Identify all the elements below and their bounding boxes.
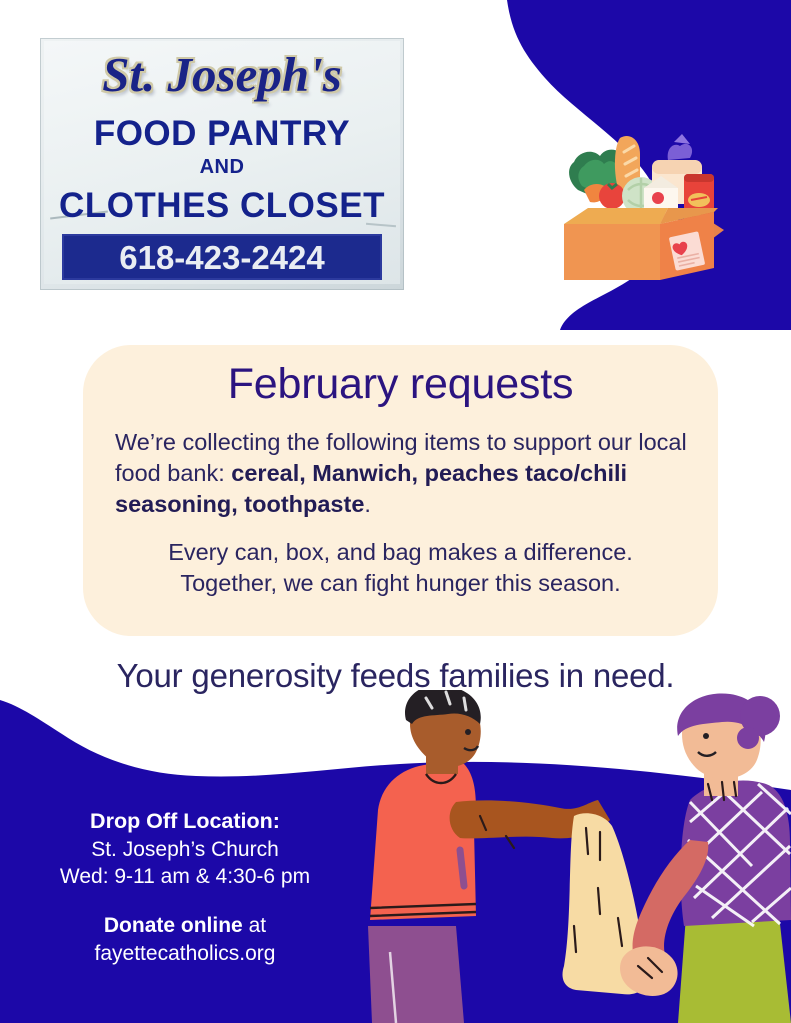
donate-website[interactable]: fayettecatholics.org	[10, 940, 360, 968]
card-title: February requests	[83, 360, 718, 409]
flyer-page: St. Joseph's FOOD PANTRY AND CLOTHES CLO…	[0, 0, 791, 1023]
left-person-pants	[368, 926, 464, 1023]
donate-connector: at	[243, 914, 266, 937]
dropoff-info: Drop Off Location: St. Joseph’s Church W…	[10, 808, 360, 891]
donation-box-icon	[548, 112, 728, 284]
sign-title: St. Joseph's	[40, 46, 404, 103]
card-closing: Every can, box, and bag makes a differen…	[103, 537, 698, 600]
donate-heading-line: Donate online at	[10, 912, 360, 940]
people-sharing-groceries-illustration	[360, 690, 791, 1023]
donate-heading: Donate online	[104, 914, 243, 937]
dropoff-hours: Wed: 9-11 am & 4:30-6 pm	[10, 863, 360, 890]
box-flap-left	[564, 208, 668, 224]
sign-line-food-pantry: FOOD PANTRY	[40, 114, 404, 154]
sign-phone-number: 618-423-2424	[119, 241, 325, 274]
box-front	[564, 224, 660, 280]
card-body: We’re collecting the following items to …	[115, 427, 690, 520]
dropoff-heading: Drop Off Location:	[10, 808, 360, 836]
card-closing-line-1: Every can, box, and bag makes a differen…	[103, 537, 698, 568]
pantry-sign-photo: St. Joseph's FOOD PANTRY AND CLOTHES CLO…	[40, 38, 404, 290]
requests-card: February requests We’re collecting the f…	[83, 345, 718, 636]
sign-line-clothes-closet: CLOTHES CLOSET	[40, 186, 404, 226]
left-person-shirt	[370, 764, 476, 920]
right-person	[620, 693, 791, 1023]
donate-info: Donate online at fayettecatholics.org	[10, 912, 360, 967]
dropoff-location: St. Joseph’s Church	[10, 836, 360, 863]
card-body-suffix: .	[364, 491, 371, 517]
card-closing-line-2: Together, we can fight hunger this seaso…	[103, 568, 698, 599]
sign-phone-bar: 618-423-2424	[62, 234, 382, 280]
sign-line-and: AND	[40, 156, 404, 179]
